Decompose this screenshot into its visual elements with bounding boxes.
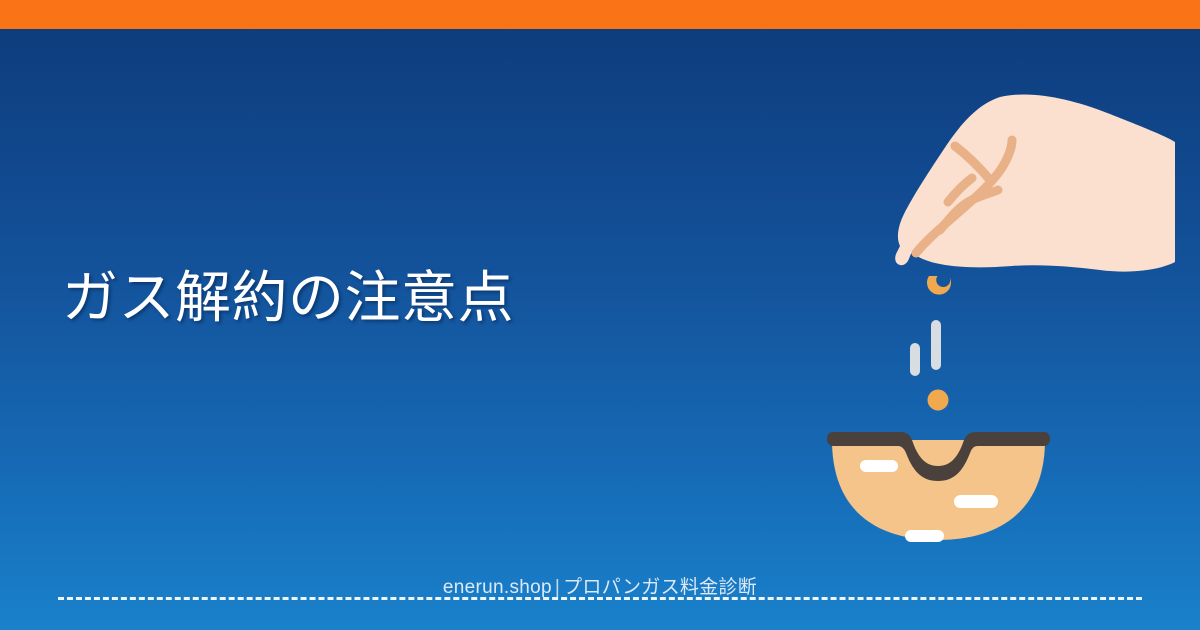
bowl-body [832,440,1045,540]
bowl-mark-center [905,530,944,542]
illustration-hand-coin-bowl [800,80,1200,560]
footer-dashed-divider [58,597,1142,600]
round-coin [928,390,949,411]
page-title: ガス解約の注意点 [62,266,762,330]
slide-canvas: ガス解約の注意点 [0,0,1200,630]
footer-tagline: プロパンガス料金診断 [563,577,757,598]
bowl-mark-left [860,460,898,472]
top-accent-bar [0,0,1200,29]
footer-separator: | [552,577,563,598]
footer-caption: enerun.shop|プロパンガス料金診断 [0,572,1200,599]
crescent-coin [927,276,951,295]
motion-line-tall [931,320,941,370]
bowl-mark-right [954,495,998,508]
motion-line-short [910,343,920,376]
bowl-illustration [827,432,1050,542]
footer-site-name: enerun.shop [443,577,552,598]
hand-illustration [895,94,1175,271]
hand-shape [895,94,1175,271]
